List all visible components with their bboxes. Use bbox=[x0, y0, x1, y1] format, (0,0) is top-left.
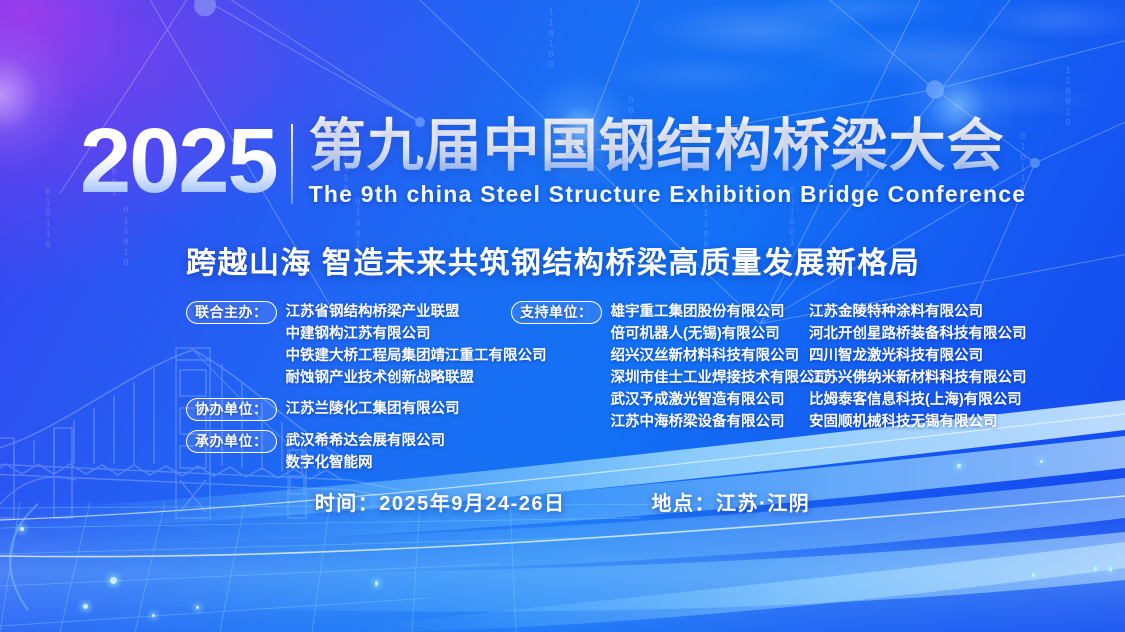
binary-column: 110010 bbox=[1062, 66, 1073, 129]
conference-banner: 010110 101001 011010 100110 010011 11010… bbox=[0, 0, 1125, 632]
org-list: 江苏金陵特种涂料有限公司 河北开创星路桥装备科技有限公司 四川智龙激光科技有限公… bbox=[809, 301, 1027, 433]
org-item: 武汉予成激光智造有限公司 bbox=[611, 389, 829, 411]
org-item: 深圳市佳士工业焊接技术有限公司 bbox=[611, 367, 829, 389]
org-item: 雄宇重工集团股份有限公司 bbox=[611, 301, 829, 323]
sparkle bbox=[83, 604, 88, 609]
organization-group: 协办单位： 江苏兰陵化工集团有限公司 bbox=[186, 398, 506, 421]
sparkle bbox=[375, 581, 378, 586]
org-item: 倍可机器人(无锡)有限公司 bbox=[611, 323, 829, 345]
sparkle bbox=[1094, 566, 1097, 571]
event-date: 时间：2025年9月24-26日 bbox=[315, 487, 566, 516]
sparkle bbox=[196, 606, 199, 609]
event-location: 地点：江苏·江阴 bbox=[652, 487, 811, 516]
title-divider bbox=[291, 124, 293, 204]
sparkle bbox=[957, 464, 961, 468]
title-row: 2025 第九届中国钢结构桥梁大会 The 9th china Steel St… bbox=[80, 116, 1026, 208]
org-item: 数字化智能网 bbox=[286, 452, 446, 474]
organizations-column-right: 江苏金陵特种涂料有限公司 河北开创星路桥装备科技有限公司 四川智龙激光科技有限公… bbox=[809, 301, 1089, 442]
org-item: 武汉希希达会展有限公司 bbox=[286, 430, 446, 452]
org-item: 中铁建大桥工程局集团靖江重工有限公司 bbox=[286, 345, 547, 367]
organizations-column-left: 联合主办： 江苏省钢结构桥梁产业联盟 中建钢构江苏有限公司 中铁建大桥工程局集团… bbox=[186, 301, 506, 483]
org-label-pill: 支持单位： bbox=[511, 301, 602, 324]
org-item: 江苏兰陵化工集团有限公司 bbox=[286, 398, 460, 420]
organization-group: 支持单位： 雄宇重工集团股份有限公司 倍可机器人(无锡)有限公司 绍兴汉丝新材料… bbox=[511, 301, 791, 433]
org-item: 耐蚀钢产业技术创新战略联盟 bbox=[286, 367, 547, 389]
footer-info: 时间：2025年9月24-26日 地点：江苏·江阴 bbox=[0, 487, 1125, 516]
organization-group: 联合主办： 江苏省钢结构桥梁产业联盟 中建钢构江苏有限公司 中铁建大桥工程局集团… bbox=[186, 301, 506, 389]
org-label-pill: 承办单位： bbox=[186, 430, 277, 453]
sparkle bbox=[20, 527, 24, 531]
conference-slogan: 跨越山海 智造未来共筑钢结构桥梁高质量发展新格局 bbox=[186, 238, 920, 282]
conference-title-en: The 9th china Steel Structure Exhibition… bbox=[309, 181, 1027, 208]
sparkle bbox=[1040, 460, 1043, 463]
org-list: 江苏兰陵化工集团有限公司 bbox=[286, 398, 460, 420]
org-list: 江苏省钢结构桥梁产业联盟 中建钢构江苏有限公司 中铁建大桥工程局集团靖江重工有限… bbox=[286, 301, 547, 389]
organization-group: 承办单位： 武汉希希达会展有限公司 数字化智能网 bbox=[186, 430, 506, 474]
binary-column: 011010 bbox=[120, 206, 131, 269]
org-label-pill: 协办单位： bbox=[186, 398, 277, 421]
org-item: 中建钢构江苏有限公司 bbox=[286, 323, 547, 345]
org-item: 江苏中海桥梁设备有限公司 bbox=[611, 411, 829, 433]
org-list: 武汉希希达会展有限公司 数字化智能网 bbox=[286, 430, 446, 474]
organizations-column-middle: 支持单位： 雄宇重工集团股份有限公司 倍可机器人(无锡)有限公司 绍兴汉丝新材料… bbox=[511, 301, 791, 442]
org-item: 安固顺机械科技无锡有限公司 bbox=[809, 411, 1027, 433]
binary-column: 110100 bbox=[545, 8, 556, 71]
sparkle bbox=[110, 577, 117, 584]
sparkle bbox=[1032, 573, 1035, 577]
org-item: 江苏兴佛纳米新材料科技有限公司 bbox=[809, 367, 1027, 389]
conference-title-cn: 第九届中国钢结构桥梁大会 bbox=[309, 116, 1027, 176]
perspective-grid-graphic bbox=[0, 502, 1125, 632]
binary-column: 010110 bbox=[42, 188, 53, 251]
title-block: 第九届中国钢结构桥梁大会 The 9th china Steel Structu… bbox=[309, 116, 1027, 208]
org-item: 比姆泰客信息科技(上海)有限公司 bbox=[809, 389, 1027, 411]
year-number: 2025 bbox=[80, 116, 291, 206]
org-item: 江苏金陵特种涂料有限公司 bbox=[809, 301, 1027, 323]
org-item: 绍兴汉丝新材料科技有限公司 bbox=[611, 345, 829, 367]
sparkle bbox=[1109, 566, 1112, 572]
glow-spot-left bbox=[0, 15, 80, 175]
org-item: 河北开创星路桥装备科技有限公司 bbox=[809, 323, 1027, 345]
org-label-pill: 联合主办： bbox=[186, 301, 277, 324]
sparkle bbox=[152, 614, 155, 617]
org-item: 四川智龙激光科技有限公司 bbox=[809, 345, 1027, 367]
org-list: 雄宇重工集团股份有限公司 倍可机器人(无锡)有限公司 绍兴汉丝新材料科技有限公司… bbox=[611, 301, 829, 433]
organization-group: 江苏金陵特种涂料有限公司 河北开创星路桥装备科技有限公司 四川智龙激光科技有限公… bbox=[809, 301, 1089, 433]
org-item: 江苏省钢结构桥梁产业联盟 bbox=[286, 301, 547, 323]
